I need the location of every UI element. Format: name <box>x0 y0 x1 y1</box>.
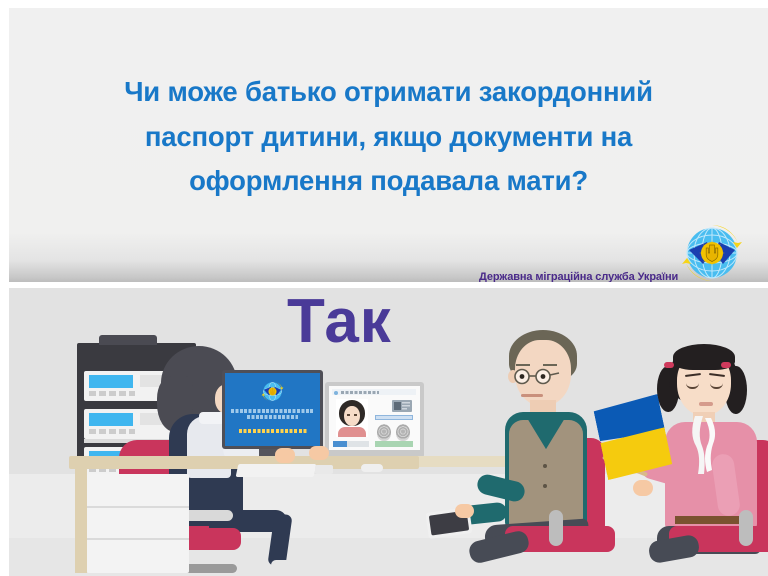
printer-display <box>89 375 133 388</box>
vest-button <box>543 464 547 468</box>
data-input-field[interactable] <box>375 415 413 420</box>
officer-hand-left <box>275 448 295 463</box>
drawer-line <box>87 538 189 540</box>
printer-buttons <box>89 391 135 396</box>
screen-caption-line-2 <box>247 415 298 419</box>
man-eyebrow-left <box>516 364 530 366</box>
man-eyebrow-right <box>543 364 557 366</box>
hair-tie-left <box>664 362 674 368</box>
printer-display <box>89 413 133 426</box>
visitor-chair-armrest <box>549 510 563 546</box>
man-mouth <box>521 394 543 397</box>
printer-buttons <box>89 429 135 434</box>
dms-portal-monitor[interactable] <box>222 370 323 449</box>
window-title-text <box>341 391 379 394</box>
glasses-icon <box>509 368 567 385</box>
girl-mouth <box>699 402 713 406</box>
title-line-3: оформлення подавала мати? <box>31 159 746 204</box>
progress-fill <box>333 441 347 447</box>
window-titlebar <box>332 389 416 395</box>
officer-shoe <box>271 560 301 570</box>
question-banner: Чи може батько отримати закордонний пасп… <box>9 8 768 282</box>
biometric-screen <box>329 386 420 450</box>
dms-portal-screen <box>225 373 320 446</box>
visitor-chair-armrest <box>739 510 753 546</box>
window-icon <box>334 391 338 395</box>
girl-hand-left <box>633 480 653 496</box>
biometric-monitor[interactable] <box>325 382 424 458</box>
photo-shoulders <box>338 427 366 437</box>
desk-leg <box>75 469 87 573</box>
photo-face <box>344 406 360 426</box>
progress-bar <box>333 441 369 447</box>
title-line-1: Чи може батько отримати закордонний <box>31 70 746 115</box>
status-ok-badge <box>375 441 413 447</box>
photo-eye-right <box>354 414 357 416</box>
mouse[interactable] <box>361 464 383 472</box>
fingerprint-left-icon <box>377 424 391 441</box>
dms-ukraine-emblem-icon <box>681 222 743 284</box>
face-photo-preview <box>336 399 368 437</box>
keyboard-numpad[interactable] <box>315 465 333 474</box>
organization-credit: Державна міграційна служба України <box>479 271 678 282</box>
title-line-2: паспорт дитини, якщо документи на <box>31 115 746 160</box>
slide-root: Чи може батько отримати закордонний пасп… <box>0 0 768 576</box>
dms-emblem-icon <box>261 380 284 403</box>
man-hand <box>455 504 474 518</box>
document-thumbnail-icon <box>391 398 413 413</box>
screen-caption-line-1 <box>231 409 314 413</box>
printer-lid <box>99 335 157 345</box>
drawer-line <box>87 506 189 508</box>
screen-subcaption <box>239 429 307 433</box>
vest-button <box>543 484 547 488</box>
drawer-unit <box>87 474 189 573</box>
fingerprint-right-icon <box>396 424 410 441</box>
page-title: Чи може батько отримати закордонний пасп… <box>9 70 768 204</box>
answer-wordmark: Так <box>287 291 392 353</box>
officer-hand-right <box>309 446 329 460</box>
illustration-panel: Так <box>9 288 768 576</box>
keyboard[interactable] <box>236 464 317 477</box>
hair-tie-right <box>721 362 731 368</box>
photo-eye-left <box>347 414 350 416</box>
